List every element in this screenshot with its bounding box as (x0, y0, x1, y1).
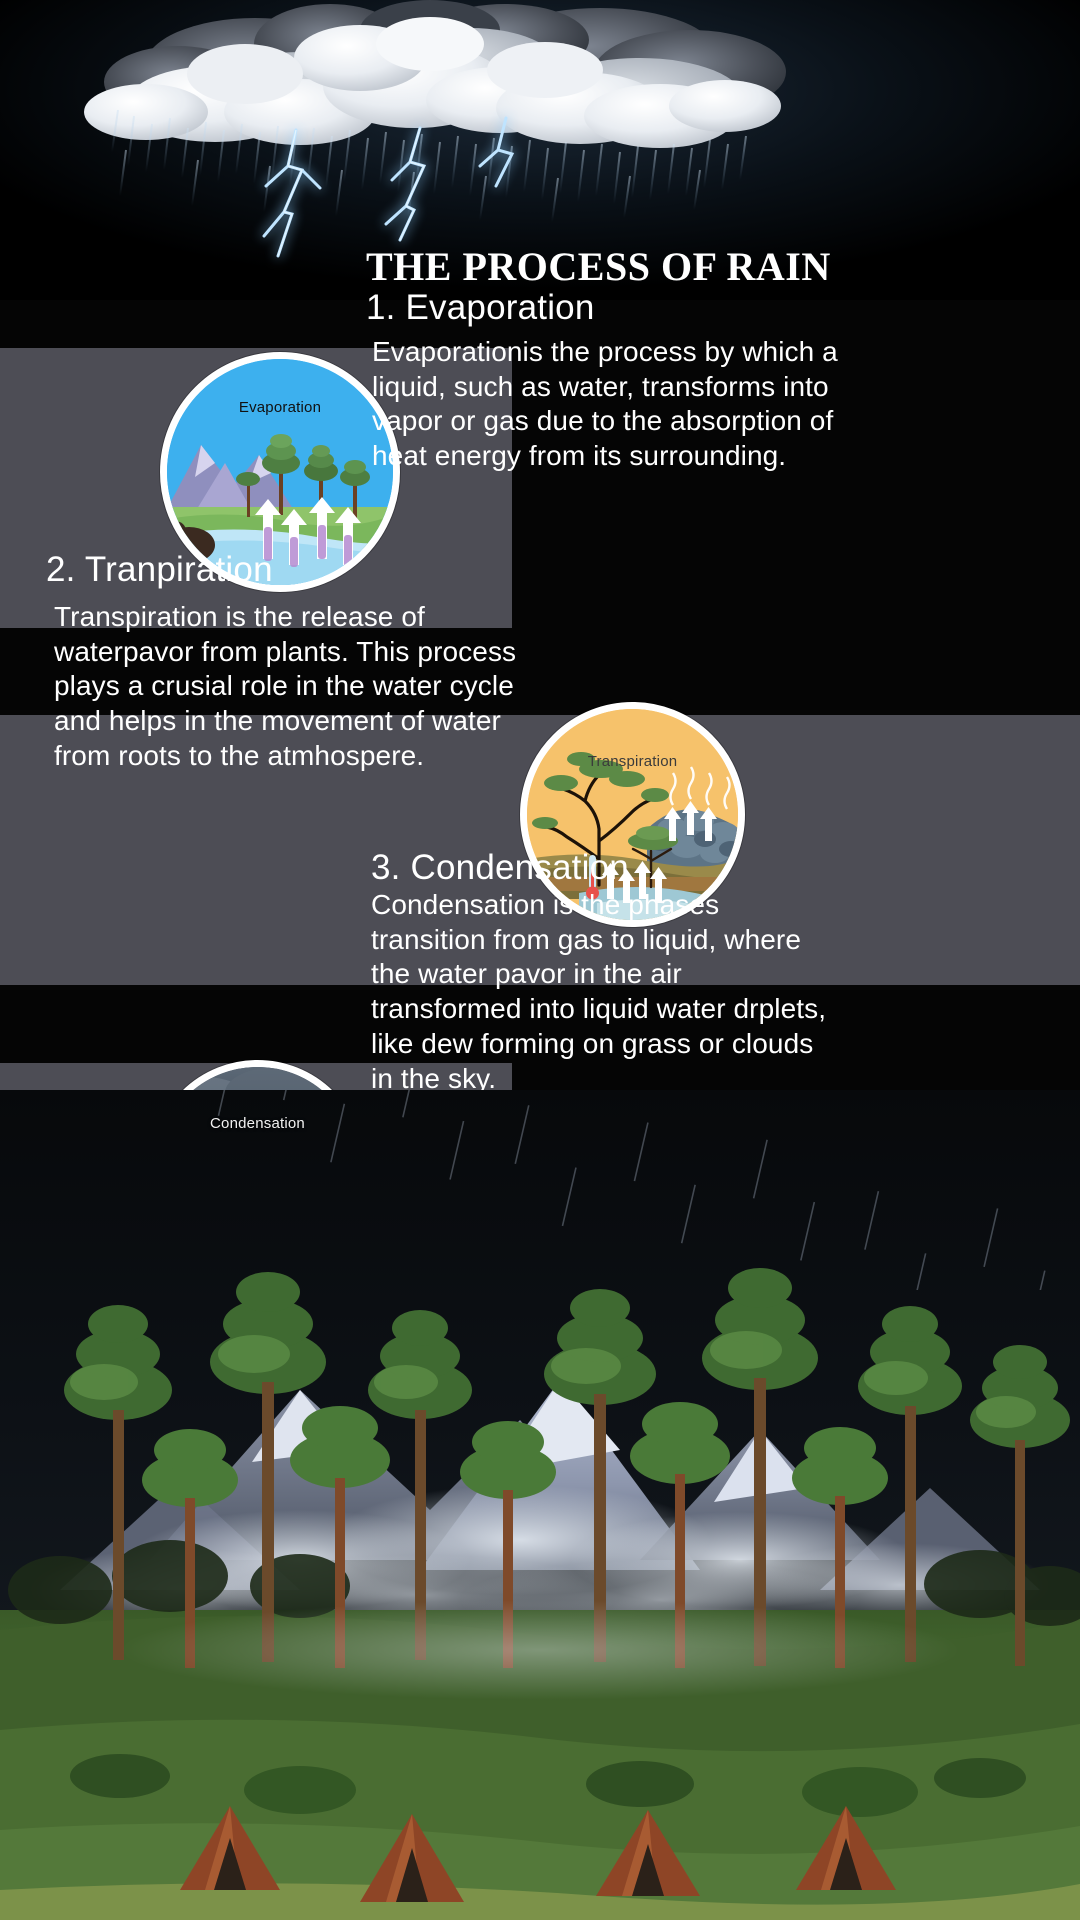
section-heading-transpiration: 2. Tranpiration (46, 550, 273, 590)
transpiration-circle-label: Transpiration (527, 753, 738, 770)
condensation-circle-label: Condensation (157, 1115, 358, 1132)
section-body-evaporation: Evaporationis the process by which a liq… (372, 335, 842, 474)
section-body-condensation: Condensation is the phases transition fr… (371, 888, 831, 1096)
section-heading-evaporation: 1. Evaporation (366, 288, 595, 328)
section-heading-condensation: 3. Condensation (371, 848, 629, 888)
section-body-transpiration: Transpiration is the release of waterpav… (54, 600, 524, 774)
rainy-forest-scene (0, 1090, 1080, 1920)
forest-scene-svg (0, 1090, 1080, 1920)
evaporation-circle-label: Evaporation (167, 399, 393, 416)
rain-process-infographic: THE PROCESS OF RAIN (0, 0, 1080, 1920)
page-title: THE PROCESS OF RAIN (366, 243, 831, 290)
